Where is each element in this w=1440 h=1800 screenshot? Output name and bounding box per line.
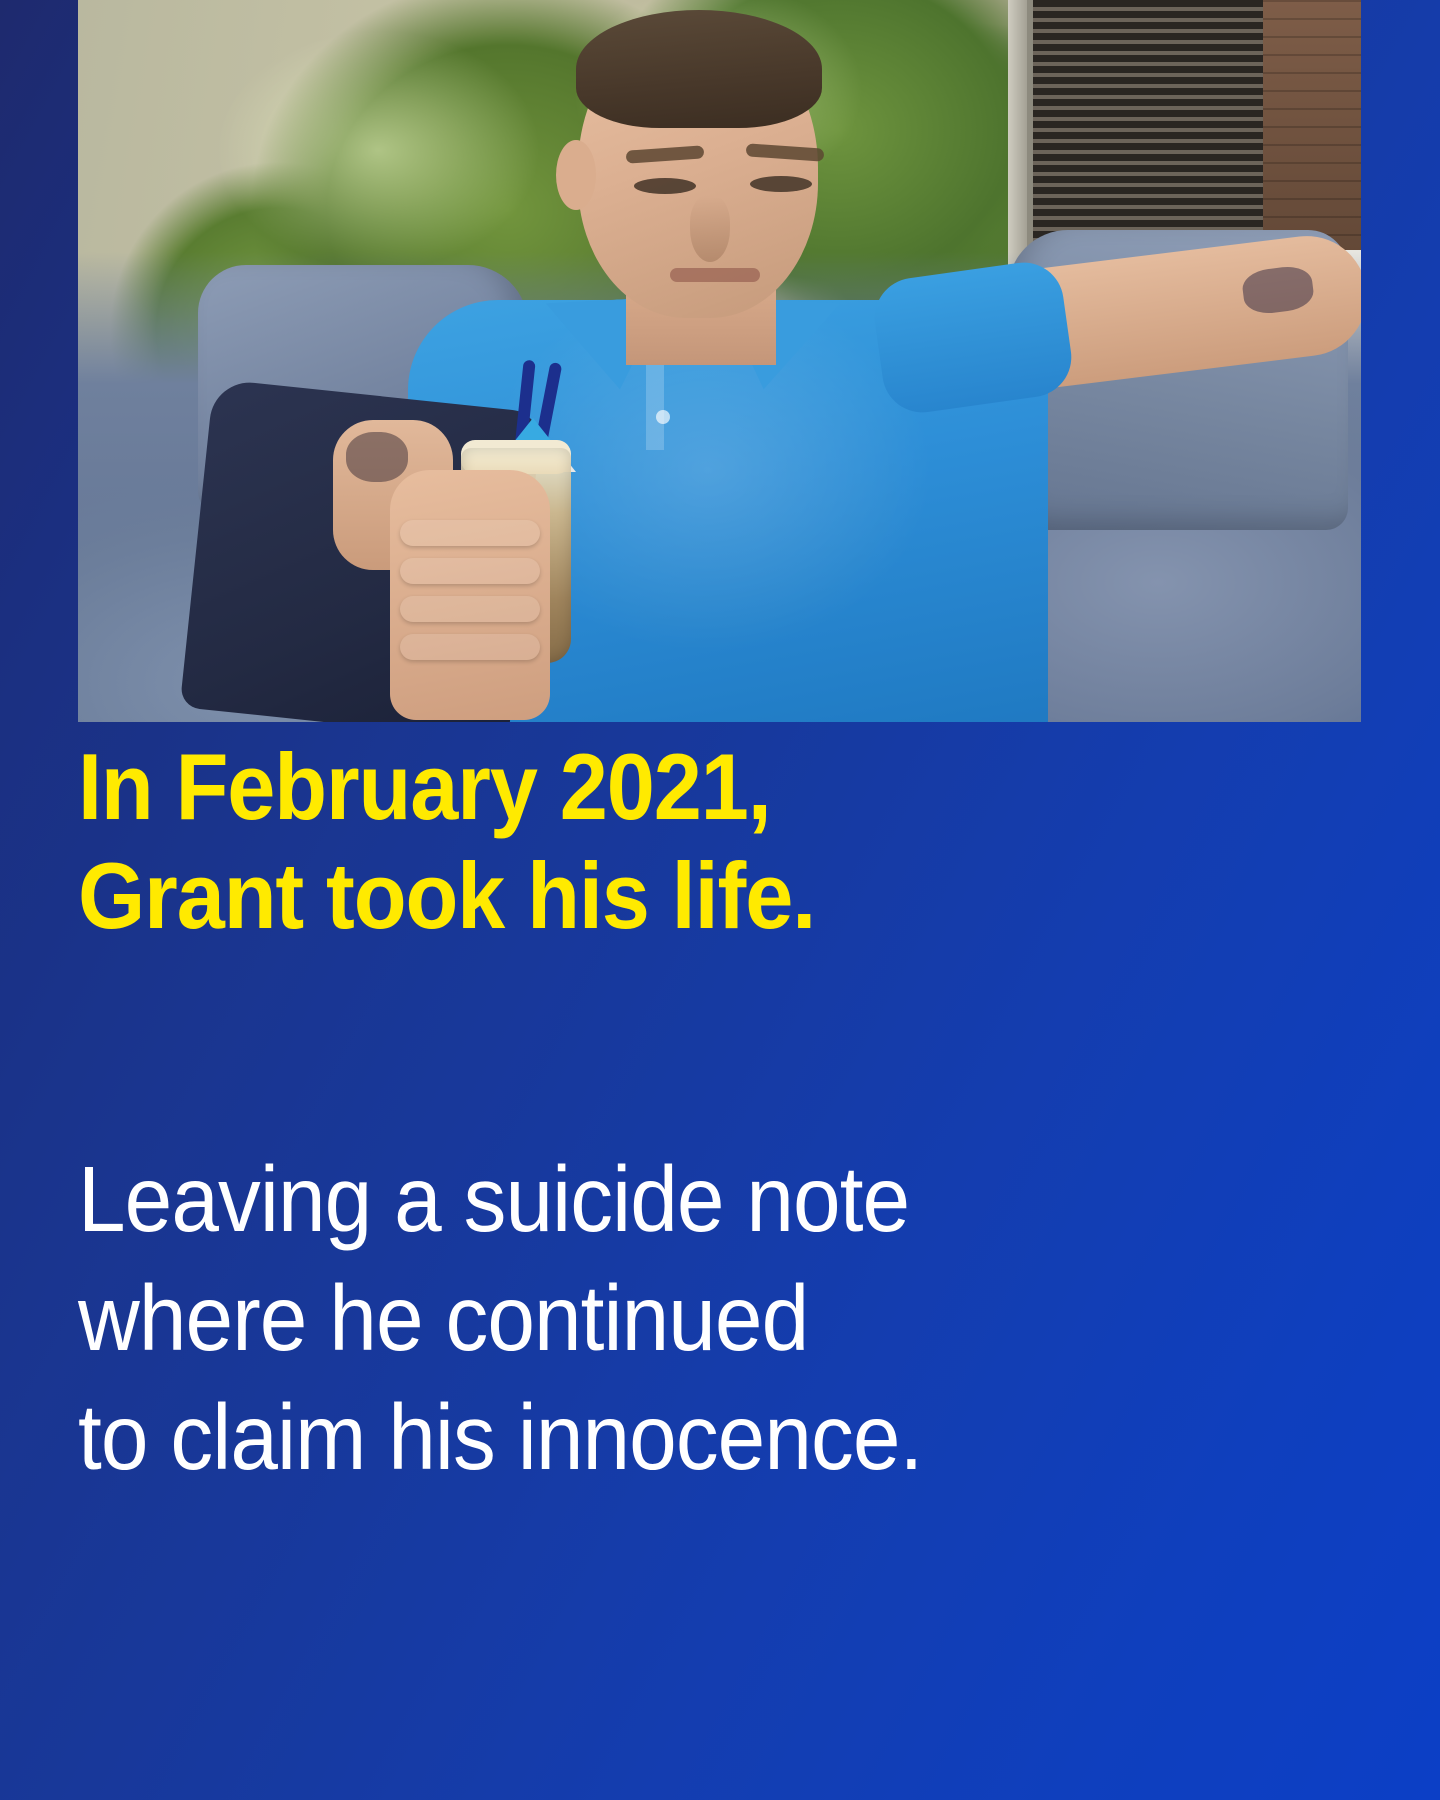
eye-left [634,178,696,194]
text-content: In February 2021, Grant took his life. L… [78,722,1368,1497]
finger [400,558,540,584]
forearm-tattoo [346,432,408,482]
hair [576,10,822,128]
finger [400,634,540,660]
shirt-sleeve [870,257,1077,417]
headline: In February 2021, Grant took his life. [78,732,1265,950]
hand [390,470,550,720]
finger [400,520,540,546]
story-card: In February 2021, Grant took his life. L… [0,0,1440,1800]
subject-photo [78,0,1361,722]
nose [690,196,730,262]
mouth [670,268,760,282]
body-paragraph: Leaving a suicide note where he continue… [78,1140,1265,1497]
photo-frame [78,0,1361,722]
eye-right [750,176,812,192]
shirt-button-bottom [656,410,670,424]
finger [400,596,540,622]
ear [556,140,596,210]
